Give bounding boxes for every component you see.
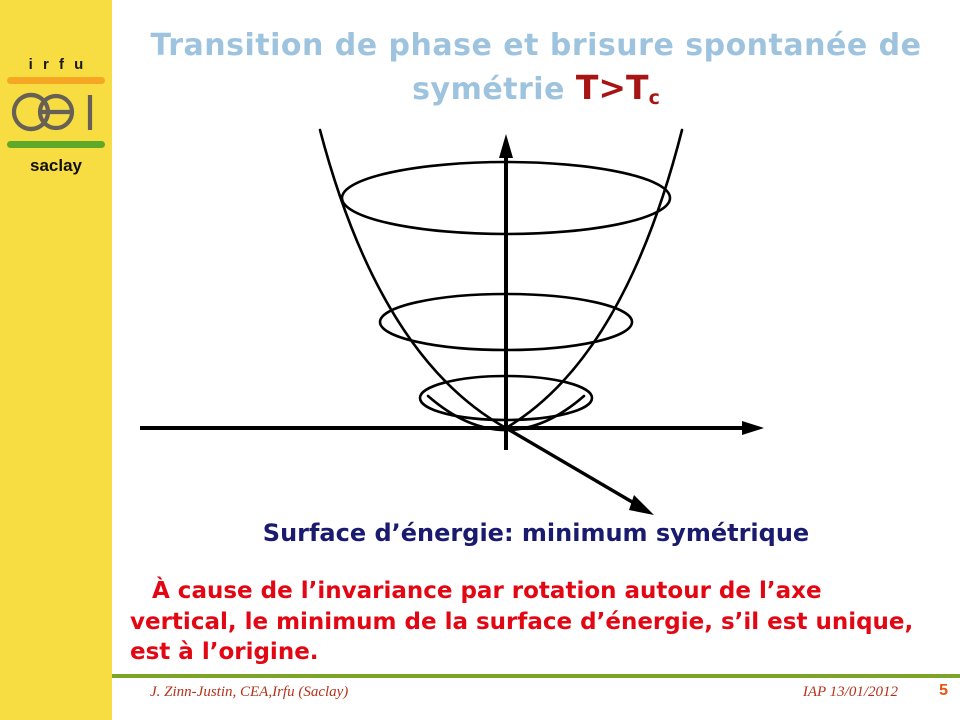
energy-surface-figure (112, 118, 960, 518)
paraboloid-right-arm (506, 130, 682, 428)
title-temperature-subscript: c (649, 87, 660, 109)
logo-site-label: saclay (0, 156, 112, 176)
horizontal-axis (140, 421, 764, 435)
depth-axis (506, 428, 654, 515)
logo-green-bar (7, 141, 105, 148)
slide: i r f u saclay Transition de phase et (0, 0, 960, 720)
slide-title: Transition de phase et brisure spontanée… (112, 26, 960, 111)
sidebar-yellow-band: i r f u saclay (0, 0, 112, 720)
logo-orange-bar (7, 77, 105, 84)
logo-irfu-label: i r f u (0, 56, 112, 73)
vertical-axis (499, 134, 513, 450)
footer-author: J. Zinn-Justin, CEA,Irfu (Saclay) (150, 684, 348, 701)
title-temperature-symbol: T>T (576, 68, 649, 107)
title-temperature-condition: T>Tc (576, 68, 660, 107)
cea-irfu-logo: i r f u saclay (0, 56, 112, 176)
title-line-1: Transition de phase et brisure spontanée… (151, 28, 922, 63)
body-paragraph: À cause de l’invariance par rotation aut… (130, 576, 930, 668)
logo-cea-wordmark (0, 86, 112, 138)
footer-event: IAP 13/01/2012 (803, 684, 898, 701)
figure-caption: Surface d’énergie: minimum symétrique (112, 519, 960, 547)
title-line-2-prefix: symétrie (412, 72, 576, 107)
footer-divider (112, 674, 960, 678)
paraboloid-left-arm (320, 130, 506, 428)
footer: J. Zinn-Justin, CEA,Irfu (Saclay) IAP 13… (112, 682, 960, 712)
footer-page-number: 5 (939, 682, 948, 700)
